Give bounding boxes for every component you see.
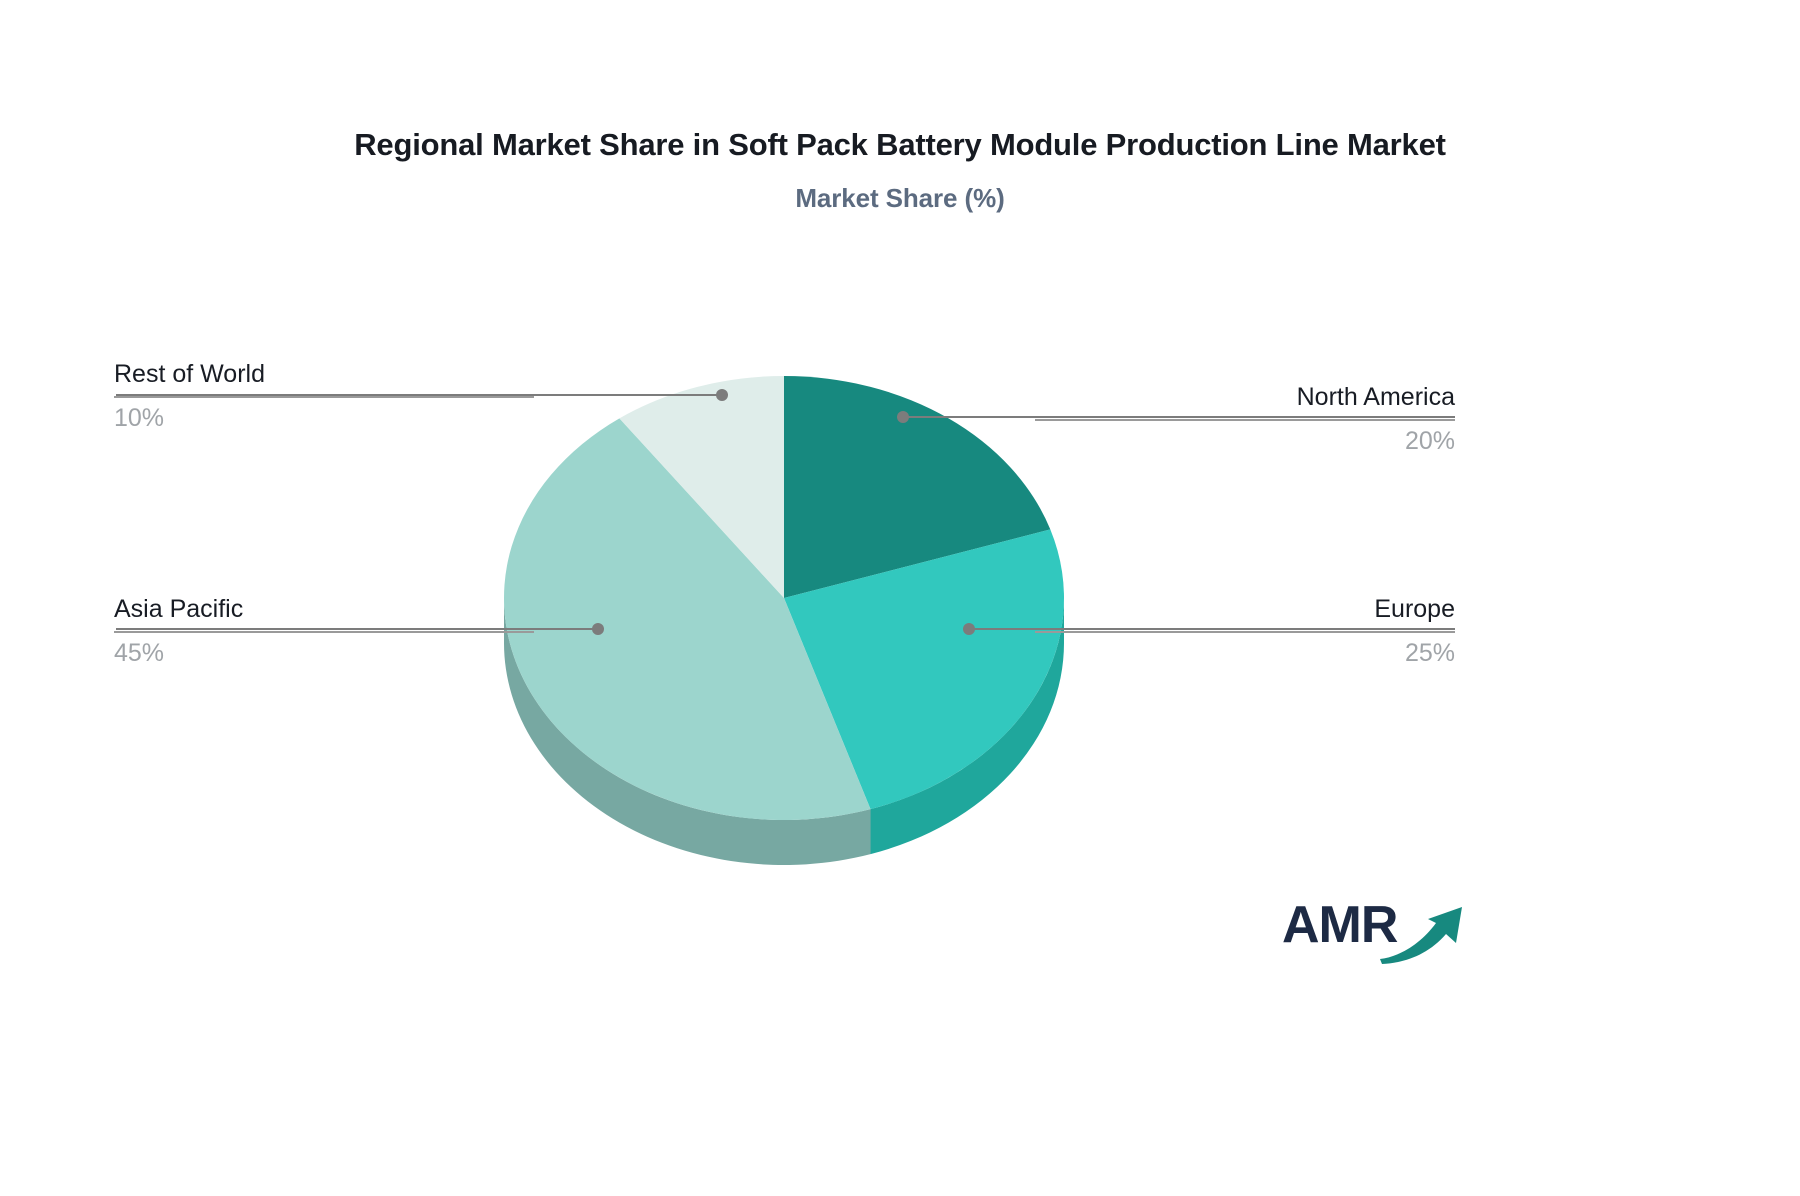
leader-dot-asia-pacific xyxy=(592,623,604,635)
callout-rule xyxy=(1035,419,1455,421)
chart-header: Regional Market Share in Soft Pack Batte… xyxy=(0,128,1800,214)
leader-dot-europe xyxy=(963,623,975,635)
growth-arrow-icon xyxy=(1378,893,1472,965)
leader-dot-rest-of-world xyxy=(716,389,728,401)
callout-value-europe: 25% xyxy=(1035,639,1455,669)
callout-label-north-america: North America xyxy=(1035,383,1455,413)
callout-rule xyxy=(114,631,534,633)
amr-logo[interactable]: AMR xyxy=(1282,893,1472,965)
chart-canvas: Regional Market Share in Soft Pack Batte… xyxy=(0,0,1800,1196)
pie-slices xyxy=(504,376,1064,820)
pie-side-asia-pacific xyxy=(504,598,871,865)
callout-rule xyxy=(114,396,534,398)
callout-europe[interactable]: Europe 25% xyxy=(1035,595,1455,668)
pie-slice-europe[interactable] xyxy=(784,529,1064,809)
callout-label-europe: Europe xyxy=(1035,595,1455,625)
chart-subtitle: Market Share (%) xyxy=(0,183,1800,214)
chart-title: Regional Market Share in Soft Pack Batte… xyxy=(0,128,1800,162)
callout-rest-of-world[interactable]: Rest of World 10% xyxy=(114,360,534,433)
callout-rule xyxy=(1035,631,1455,633)
callout-label-asia-pacific: Asia Pacific xyxy=(114,595,534,625)
callout-asia-pacific[interactable]: Asia Pacific 45% xyxy=(114,595,534,668)
callout-value-asia-pacific: 45% xyxy=(114,639,534,669)
callout-value-north-america: 20% xyxy=(1035,427,1455,457)
callout-label-rest-of-world: Rest of World xyxy=(114,360,534,390)
pie-slice-asia-pacific[interactable] xyxy=(504,418,871,820)
pie-slice-rest-of-world[interactable] xyxy=(619,376,784,598)
callout-north-america[interactable]: North America 20% xyxy=(1035,383,1455,456)
pie-slice-north-america[interactable] xyxy=(784,376,1050,598)
leader-dot-north-america xyxy=(897,411,909,423)
pie-3d-side-walls xyxy=(504,598,1064,865)
callout-value-rest-of-world: 10% xyxy=(114,404,534,434)
